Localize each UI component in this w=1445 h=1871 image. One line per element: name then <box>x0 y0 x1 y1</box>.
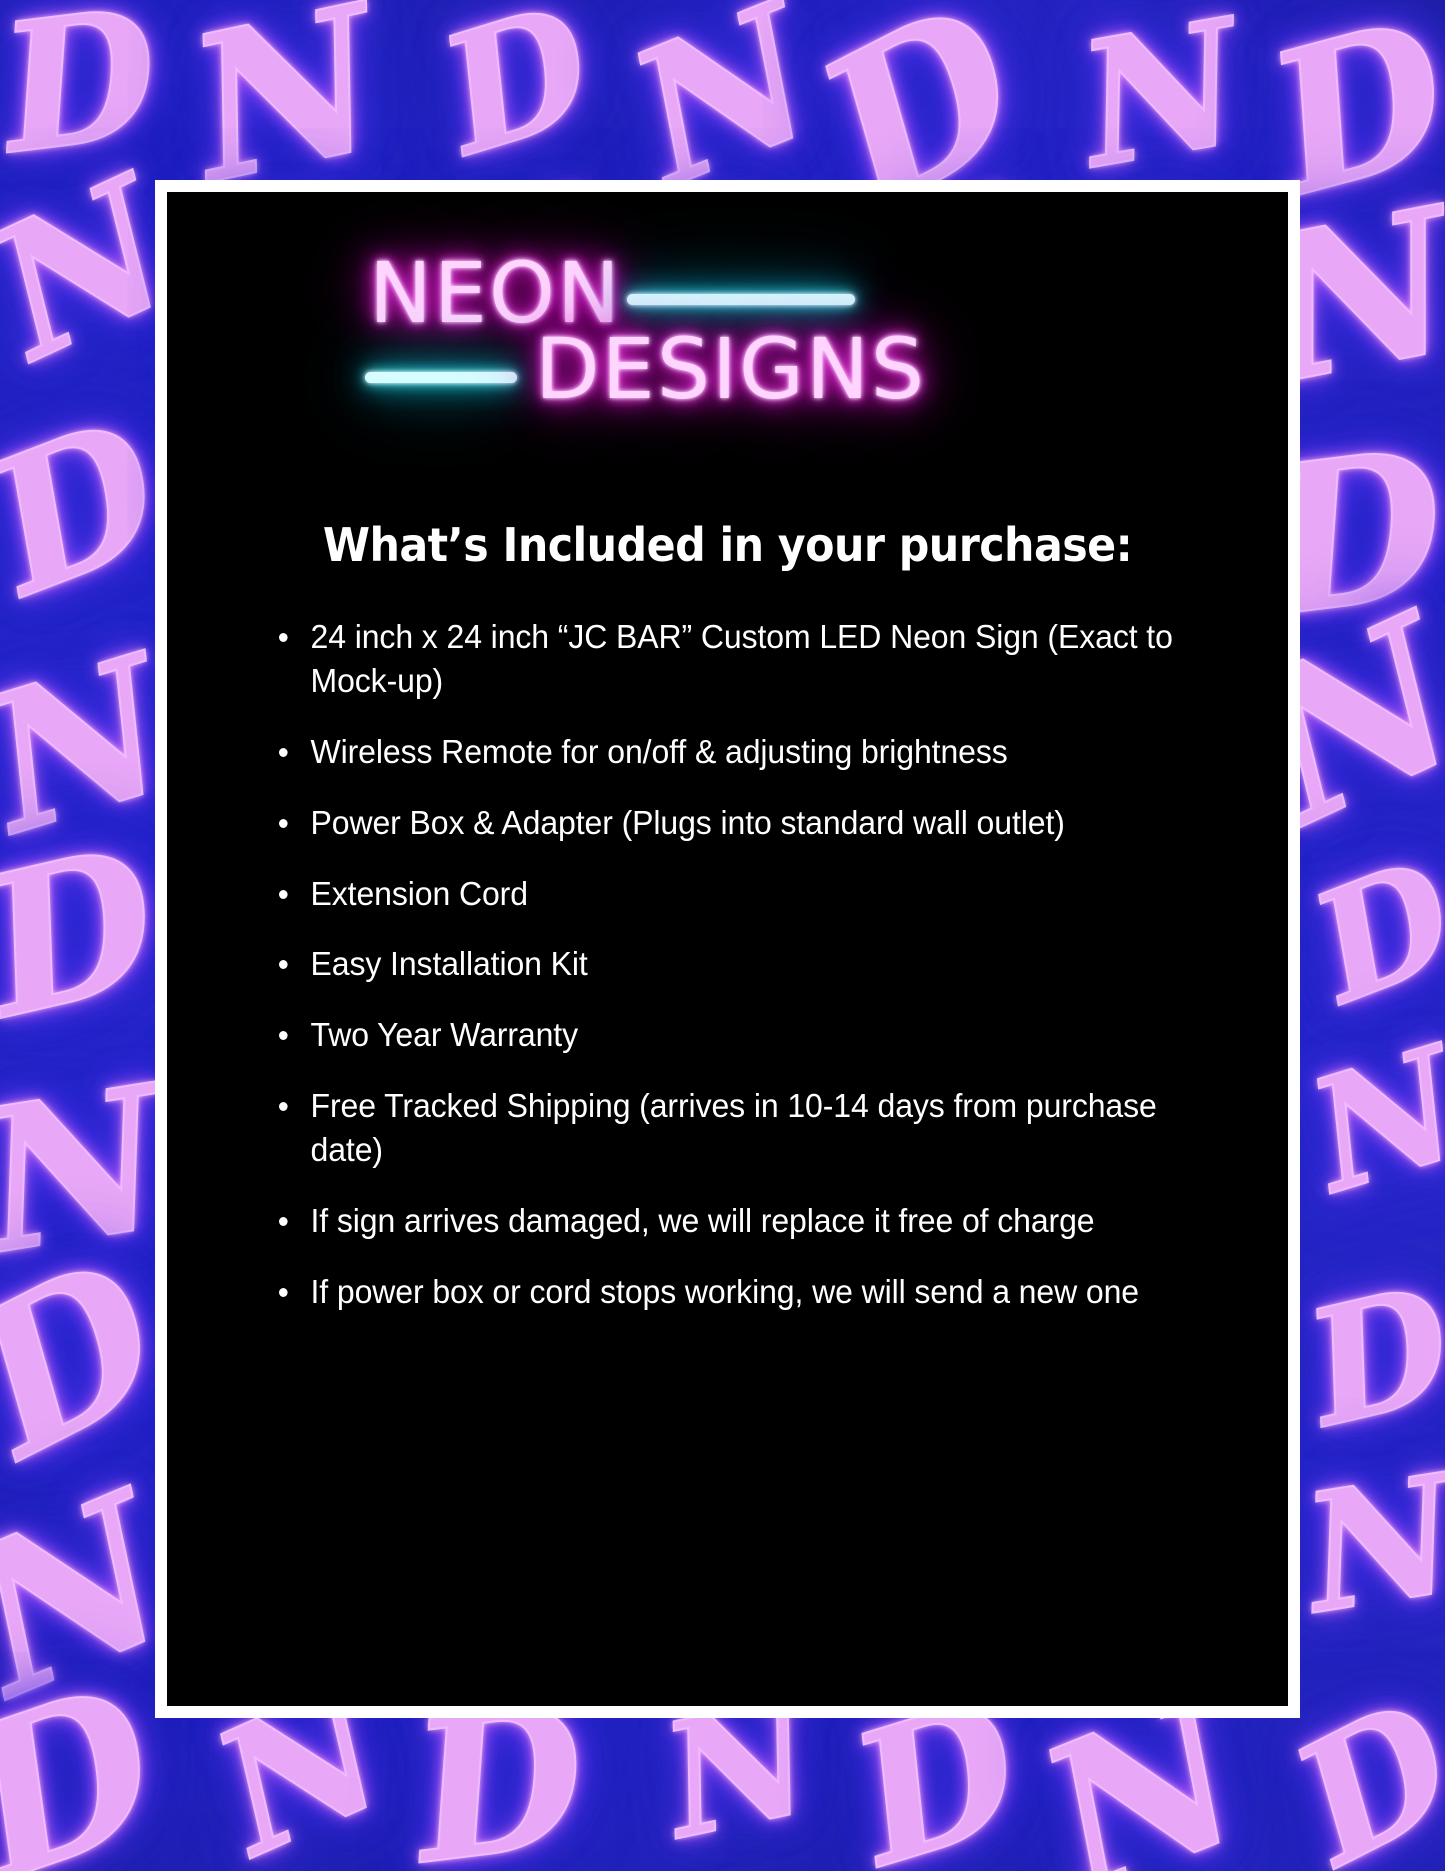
list-item: If sign arrives damaged, we will replace… <box>279 1200 1183 1244</box>
list-item: Free Tracked Shipping (arrives in 10-14 … <box>279 1085 1183 1173</box>
logo-word-designs: DESIGNS <box>535 320 926 418</box>
list-item: 24 inch x 24 inch “JC BAR” Custom LED Ne… <box>279 616 1183 704</box>
logo-neon-bar-top <box>627 294 855 305</box>
card-white-border: NEON DESIGNS What’s Included in your pur… <box>155 180 1300 1718</box>
list-item: Extension Cord <box>279 873 1183 917</box>
background-neon-letter: N <box>1296 1461 1445 1629</box>
brand-logo: NEON DESIGNS <box>167 238 1288 478</box>
page-title: What’s Included in your purchase: <box>206 518 1249 572</box>
list-item: Wireless Remote for on/off & adjusting b… <box>279 731 1183 775</box>
card-content: NEON DESIGNS What’s Included in your pur… <box>167 192 1288 1706</box>
background-neon-letter: D <box>0 0 166 170</box>
list-item: Power Box & Adapter (Plugs into standard… <box>279 802 1183 846</box>
list-item: Two Year Warranty <box>279 1014 1183 1058</box>
poster-page: NDNDNDNNDNDNDNDDNDNDNDNNDNDNDNDDNDNDNDNN… <box>0 0 1445 1871</box>
list-item: Easy Installation Kit <box>279 943 1183 987</box>
list-item: If power box or cord stops working, we w… <box>279 1271 1183 1315</box>
included-items-list: 24 inch x 24 inch “JC BAR” Custom LED Ne… <box>167 616 1288 1315</box>
background-neon-letter: N <box>1071 5 1253 185</box>
logo-neon-bar-bottom <box>365 372 517 383</box>
